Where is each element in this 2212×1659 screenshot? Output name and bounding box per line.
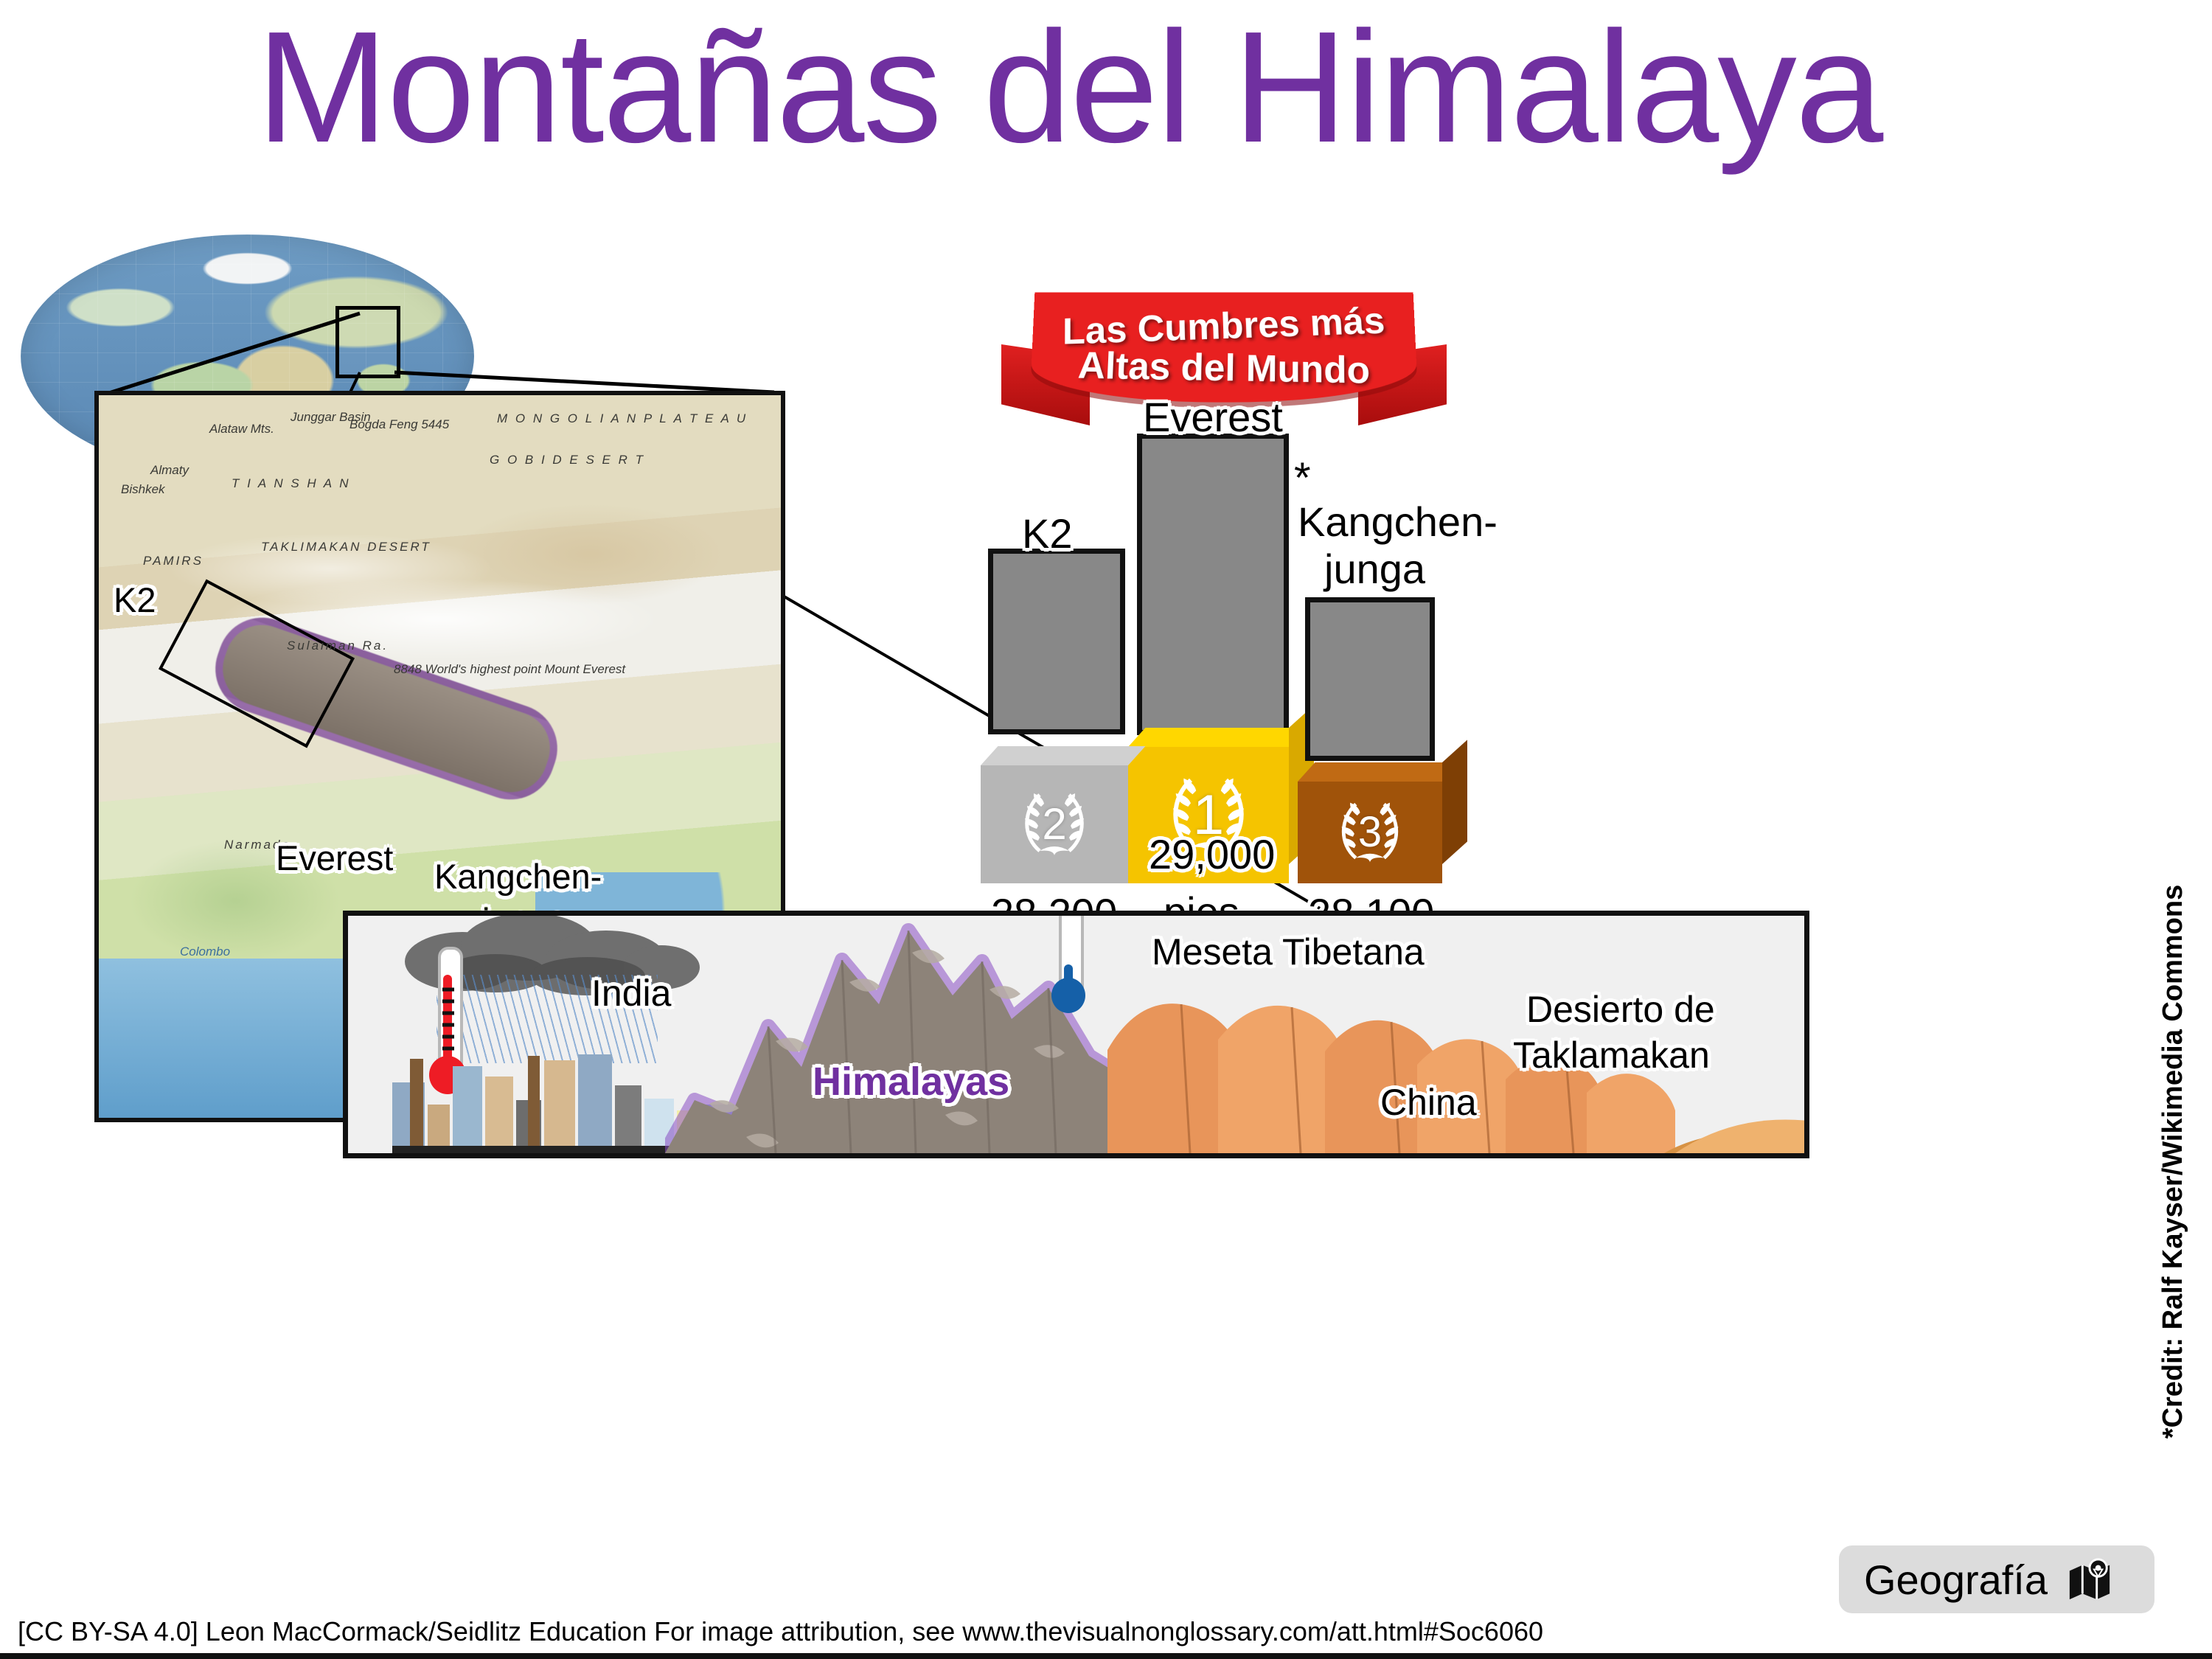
photo-credit-text: *Credit: Ralf Kayser/Wikimedia Commons: [2158, 884, 2190, 1438]
medal-third: 3: [1335, 797, 1405, 868]
map-feature-label: G O B I D E S E R T: [490, 453, 645, 467]
footer-rule: [0, 1653, 2212, 1659]
xsec-label-desert-line1: Desierto de: [1526, 990, 1715, 1030]
map-label-everest: Everest: [276, 838, 393, 878]
map-feature-label: Colombo: [180, 945, 230, 959]
banner-body: Las Cumbres más Altas del Mundo: [1030, 292, 1419, 402]
tallest-peaks-podium: * Everest 1 29,000 pies. K2: [981, 413, 1851, 885]
laurel-wreath-icon: [1018, 787, 1091, 861]
subject-badge[interactable]: Geografía: [1839, 1545, 2154, 1613]
himalaya-cross-section[interactable]: India Himalayas Meseta Tibetana China De…: [343, 911, 1809, 1158]
map-feature-label: M O N G O L I A N P L A T E A U: [497, 411, 748, 426]
map-arrows: [99, 395, 320, 506]
medal-second: 2: [1018, 787, 1091, 861]
peak-k2[interactable]: K2: [988, 549, 1125, 734]
page-title: Montañas del Himalaya: [0, 7, 2138, 166]
footer-attribution: [CC BY-SA 4.0] Leon MacCormack/Seidlitz …: [18, 1616, 1543, 1647]
banner-line-2: Altas del Mundo: [1077, 344, 1371, 392]
map-feature-label: Bogda Feng 5445: [349, 417, 449, 432]
peak-photo-everest: [1137, 434, 1289, 735]
peak-everest[interactable]: Everest: [1137, 434, 1289, 735]
subject-label: Geografía: [1864, 1556, 2048, 1604]
map-feature-label: 8848 World's highest point Mount Everest: [394, 662, 625, 677]
map-feature-label: Sulaiman Ra.: [287, 639, 389, 653]
podium-block-first: 1 29,000: [1128, 747, 1289, 883]
photo-credit: *Credit: Ralf Kayser/Wikimedia Commons: [2152, 888, 2196, 1434]
peak-name-kangchenjunga-line2: junga: [1324, 549, 1425, 590]
xsec-label-china: China: [1380, 1082, 1477, 1123]
peak-kangchenjunga[interactable]: Kangchen- junga: [1305, 597, 1435, 761]
map-feature-label: TAKLIMAKAN DESERT: [261, 540, 431, 554]
map-feature-label: PAMIRS: [143, 554, 204, 568]
peak-name-everest: Everest: [1143, 397, 1283, 438]
podium-block-third: 3: [1298, 782, 1442, 883]
map-label-kangchenjunga-line1: Kangchen-: [434, 856, 602, 897]
folded-map-pin-icon: [2067, 1555, 2112, 1604]
map-label-k2: K2: [114, 580, 156, 620]
peak-photo-k2: [988, 549, 1125, 734]
globe-zoom-region-box: [335, 306, 400, 378]
laurel-wreath-icon: [1335, 797, 1405, 868]
peak-height-first: 29,000: [1149, 834, 1275, 875]
thermometer-cold: [1050, 911, 1091, 1015]
xsec-label-desert-line2: Taklamakan: [1513, 1035, 1710, 1076]
peak-name-k2: K2: [1022, 513, 1073, 554]
xsec-label-himalayas: Himalayas: [813, 1060, 1009, 1104]
peak-photo-kangchenjunga: [1305, 597, 1435, 761]
footnote-asterisk: *: [1294, 453, 1311, 503]
xsec-label-india: India: [591, 973, 671, 1014]
peak-name-kangchenjunga-line1: Kangchen-: [1298, 501, 1498, 543]
podium-block-second: 2: [981, 765, 1128, 883]
xsec-label-tibetan-plateau: Meseta Tibetana: [1152, 932, 1425, 973]
